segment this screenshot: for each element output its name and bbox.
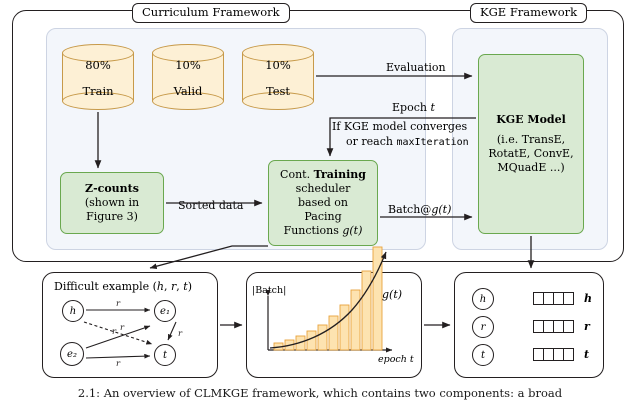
edge-label-converge-line1: If KGE model converges <box>332 120 467 133</box>
train-percent: 80% <box>62 58 134 72</box>
output-node-t: t <box>472 344 494 366</box>
z-counts-box: Z-counts (shown in Figure 3) <box>60 172 164 234</box>
kge-model-line2: (i.e. TransE, <box>497 133 565 147</box>
output-node-h: h <box>472 288 494 310</box>
output-vector-t-label: t <box>584 348 589 361</box>
test-percent: 10% <box>242 58 314 72</box>
graph-node-h: h <box>62 300 84 322</box>
training-scheduler-box: Cont. Training scheduler based on Pacing… <box>268 160 378 246</box>
z-counts-title: Z-counts <box>85 182 139 196</box>
scheduler-line5: Functions g(t) <box>284 224 363 238</box>
scheduler-line2: scheduler <box>296 182 351 196</box>
valid-label: Valid <box>152 84 224 98</box>
chart-ylabel: |Batch| <box>252 285 286 296</box>
z-counts-line2: (shown in <box>85 196 139 210</box>
dataset-cylinder-train: 80% Train <box>62 44 134 110</box>
edge-label-epoch-t: Epoch t <box>392 101 435 114</box>
output-vector-h-label: h <box>584 292 592 305</box>
test-label: Test <box>242 84 314 98</box>
train-label: Train <box>62 84 134 98</box>
kge-framework-title: KGE Framework <box>470 3 587 23</box>
edge-label-batch-g: Batch@g(t) <box>388 203 451 216</box>
figure-caption: 2.1: An overview of CLMKGE framework, wh… <box>0 386 640 400</box>
kge-model-box: KGE Model (i.e. TransE, RotatE, ConvE, M… <box>478 54 584 234</box>
output-vector-h-cells <box>534 292 574 305</box>
output-vector-r-cells <box>534 320 574 333</box>
edge-label-sorted-data: Sorted data <box>178 199 243 212</box>
output-vector-r-label: r <box>584 320 590 333</box>
z-counts-line3: Figure 3) <box>86 210 138 224</box>
output-node-r: r <box>472 316 494 338</box>
scheduler-line1: Cont. Training <box>280 168 366 182</box>
kge-model-line3: RotatE, ConvE, <box>488 147 573 161</box>
chart-curve-label: g(t) <box>382 288 402 301</box>
dataset-cylinder-test: 10% Test <box>242 44 314 110</box>
graph-node-e2: e₂ <box>60 342 84 366</box>
valid-percent: 10% <box>152 58 224 72</box>
scheduler-line3: based on <box>298 196 348 210</box>
edge-label-converge-line2: or reach maxIteration <box>346 135 469 148</box>
kge-model-title: KGE Model <box>496 113 566 127</box>
graph-node-e1: e₁ <box>154 300 176 322</box>
edge-label-evaluation: Evaluation <box>386 61 446 74</box>
kge-model-line4: MQuadE ...) <box>497 161 564 175</box>
graph-node-t: t <box>154 344 176 366</box>
chart-xlabel: epoch t <box>378 354 414 365</box>
dataset-cylinder-valid: 10% Valid <box>152 44 224 110</box>
difficult-example-title: Difficult example (h, r, t) <box>54 280 192 293</box>
output-vector-t-cells <box>534 348 574 361</box>
diagram-root: Curriculum Framework KGE Framework 80% T… <box>0 0 640 410</box>
scheduler-line4: Pacing <box>304 210 341 224</box>
curriculum-framework-title: Curriculum Framework <box>132 3 290 23</box>
